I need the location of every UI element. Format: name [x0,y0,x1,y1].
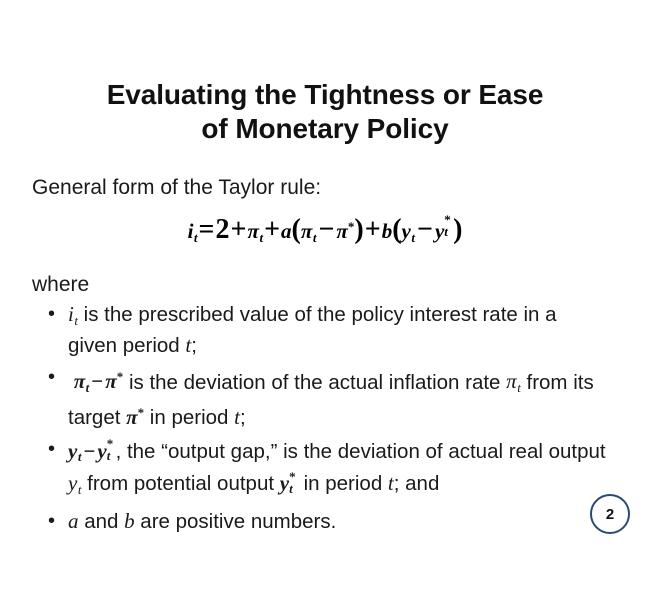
list-item: • a and b are positive numbers. [40,509,610,534]
equation-lhs: it [188,219,198,243]
list-item-body-2: are positive numbers. [135,510,337,533]
equation-constant: 2 [216,214,230,245]
symbol-minus-b: − [81,439,97,463]
list-item-tail: ; [191,334,197,357]
list-item-text: a and b are positive numbers. [68,509,610,534]
equation-minus-2: − [415,214,435,245]
equation-rparen-2: ) [453,214,462,245]
equation-rparen-1: ) [354,214,363,245]
equation-coef-b: b [382,219,393,243]
page-number-badge: 2 [590,494,630,534]
equation-pi-t-1: πt [247,219,263,243]
symbol-y-star-t-a: y*t [97,439,115,463]
symbol-pi-t-a: πt [74,369,90,393]
symbol-pi-t-b: πt [506,369,521,393]
equation-equals: = [198,214,216,245]
list-item-body-3: in period [298,472,388,495]
list-item-body-2: from potential output [81,472,279,495]
taylor-rule-equation: it=2+πt+a(πt−π*)+b(yt−y*t) [0,214,650,246]
list-item-tail: ; and [394,472,440,495]
equation-lparen-1: ( [292,214,301,245]
page-title-line-1: Evaluating the Tightness or Ease [40,78,610,112]
definition-list: • it is the prescribed value of the poli… [40,302,610,541]
list-item-body-1: and [79,510,125,533]
equation-minus-1: − [316,214,336,245]
symbol-y-t-b: yt [68,471,81,495]
list-item-body-3: in period [144,406,234,429]
bullet-marker-icon: • [48,365,55,390]
equation-plus-1: + [230,214,248,245]
equation-y-t: yt [402,219,415,243]
symbol-y-t-a: yt [68,439,81,463]
list-item-body: is the prescribed value of the policy in… [68,303,557,357]
where-label: where [32,272,89,298]
symbol-i-t: it [68,302,78,326]
equation-lparen-2: ( [392,214,401,245]
symbol-minus-a: − [89,369,105,393]
list-item-body-1: , the “output gap,” is the deviation of … [116,440,606,463]
equation-y-star-t: y*t [435,219,453,243]
page-title-line-2: of Monetary Policy [40,112,610,146]
list-item-tail: ; [240,406,246,429]
symbol-pi-star-a: π* [105,369,123,393]
symbol-a: a [68,509,79,533]
list-item-text: yt−y*t, the “output gap,” is the deviati… [68,437,610,502]
symbol-b: b [124,509,135,533]
list-item-body-1: is the deviation of the actual inflation… [123,370,506,393]
page-title: Evaluating the Tightness or Ease of Mone… [40,78,610,146]
equation-plus-3: + [364,214,382,245]
equation-plus-2: + [263,214,281,245]
list-item: • πt−π* is the deviation of the actual i… [40,365,610,430]
bullet-marker-icon: • [48,509,55,534]
list-item-text: it is the prescribed value of the policy… [68,302,610,358]
list-item-text: πt−π* is the deviation of the actual inf… [68,365,610,430]
lead-text: General form of the Taylor rule: [32,175,321,201]
equation-coef-a: a [281,219,292,243]
equation-pi-star: π* [336,219,354,243]
symbol-y-star-t-b: y*t [280,471,298,495]
list-item: • it is the prescribed value of the poli… [40,302,610,358]
page-number-value: 2 [606,506,614,523]
equation-pi-t-2: πt [301,219,317,243]
slide-canvas: Evaluating the Tightness or Ease of Mone… [0,0,650,600]
bullet-marker-icon: • [48,302,55,327]
bullet-marker-icon: • [48,437,55,462]
symbol-pi-star-b: π* [126,405,144,429]
list-item: • yt−y*t, the “output gap,” is the devia… [40,437,610,502]
